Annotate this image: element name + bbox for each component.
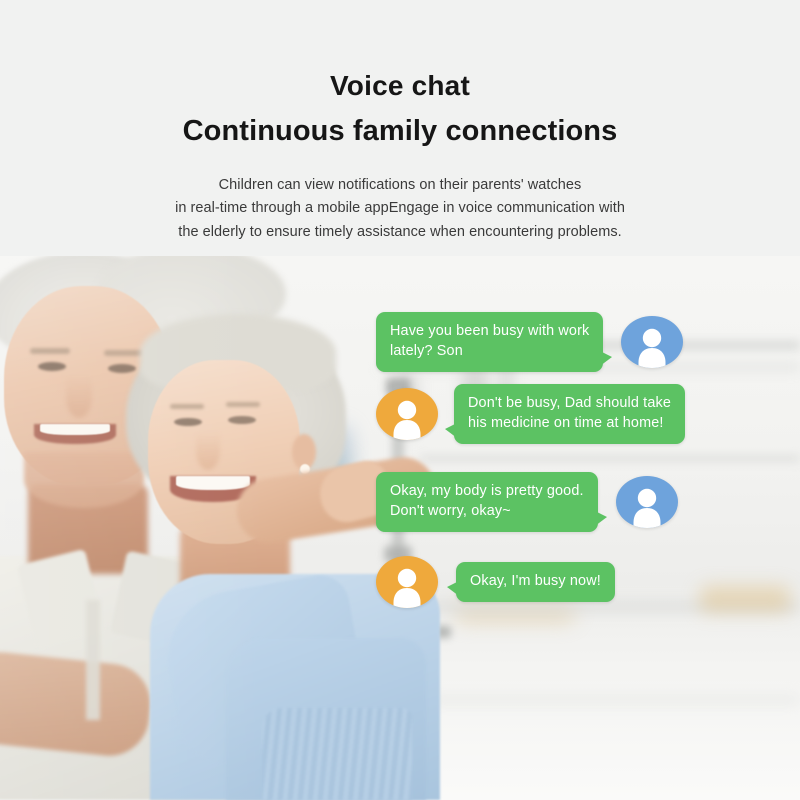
avatar[interactable] bbox=[621, 316, 683, 368]
hero-photo: Have you been busy with work lately? Son bbox=[0, 256, 800, 800]
chat-message-row: Have you been busy with work lately? Son bbox=[376, 312, 683, 372]
description-line-3: the elderly to ensure timely assistance … bbox=[0, 221, 800, 244]
avatar[interactable] bbox=[376, 388, 438, 440]
page-title-primary: Voice chat bbox=[0, 72, 800, 100]
chat-bubble[interactable]: Have you been busy with work lately? Son bbox=[376, 312, 603, 372]
header-section: Voice chat Continuous family connections… bbox=[0, 0, 800, 256]
person-avatar-icon bbox=[627, 486, 667, 528]
chat-conversation: Have you been busy with work lately? Son bbox=[0, 256, 800, 800]
chat-message-row: Okay, my body is pretty good. Don't worr… bbox=[376, 472, 678, 532]
description-line-1: Children can view notifications on their… bbox=[0, 174, 800, 197]
page-title-secondary: Continuous family connections bbox=[0, 117, 800, 146]
chat-bubble[interactable]: Don't be busy, Dad should take his medic… bbox=[454, 384, 685, 444]
chat-bubble[interactable]: Okay, my body is pretty good. Don't worr… bbox=[376, 472, 598, 532]
person-avatar-icon bbox=[387, 398, 427, 440]
chat-message-row: Don't be busy, Dad should take his medic… bbox=[376, 384, 685, 444]
person-avatar-icon bbox=[387, 566, 427, 608]
person-avatar-icon bbox=[632, 326, 672, 368]
chat-bubble[interactable]: Okay, I'm busy now! bbox=[456, 562, 615, 601]
title-block: Voice chat Continuous family connections bbox=[0, 0, 800, 146]
description-line-2: in real-time through a mobile appEngage … bbox=[0, 197, 800, 220]
page-description: Children can view notifications on their… bbox=[0, 174, 800, 244]
avatar[interactable] bbox=[616, 476, 678, 528]
avatar[interactable] bbox=[376, 556, 438, 608]
chat-message-row: Okay, I'm busy now! bbox=[376, 556, 615, 608]
